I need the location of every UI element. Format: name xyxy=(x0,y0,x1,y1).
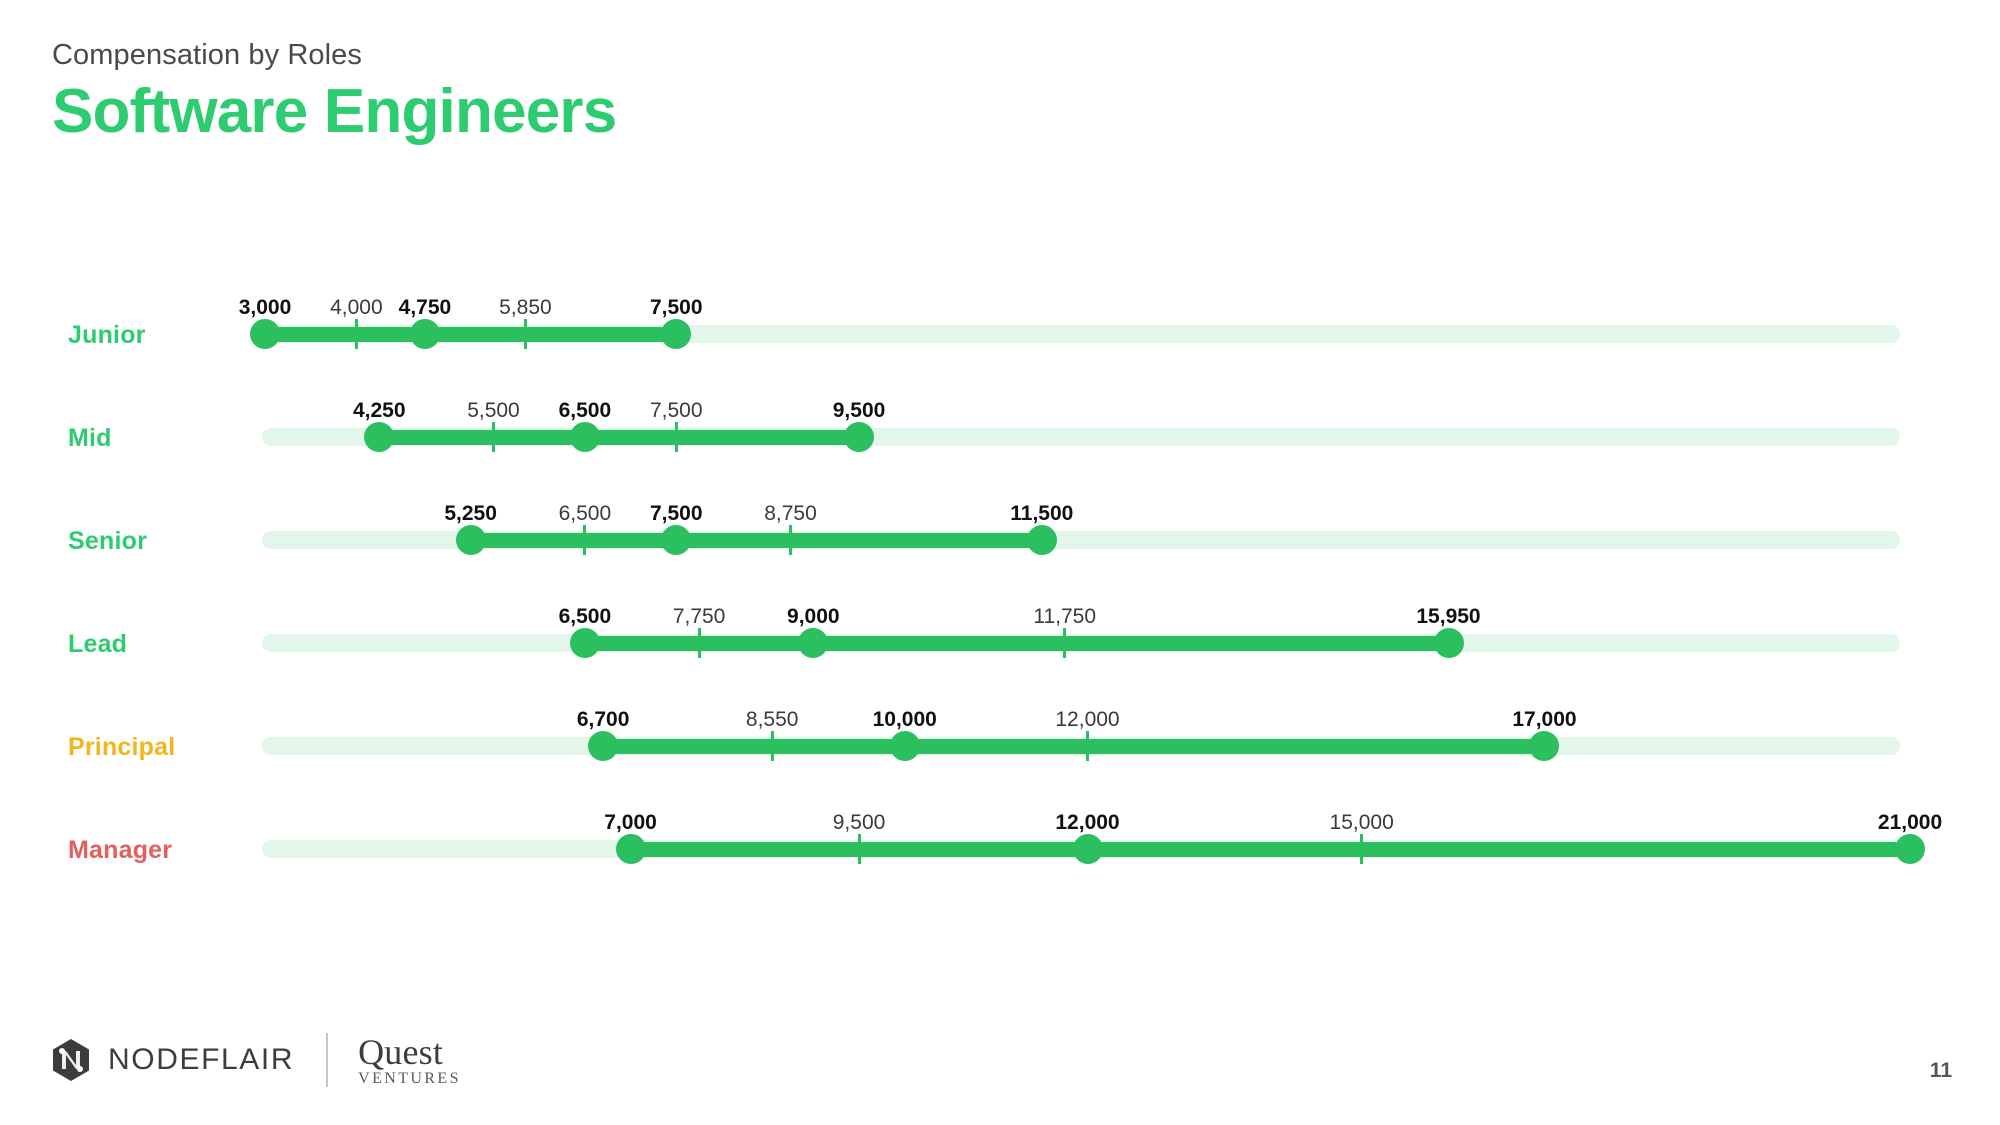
marker-dot-max xyxy=(1027,525,1057,555)
value-label-p75: 8,750 xyxy=(764,502,817,526)
chart-row-junior: Junior3,0004,0004,7505,8507,500 xyxy=(0,300,2000,404)
row-range-bar xyxy=(631,842,1910,857)
marker-dot-median xyxy=(798,628,828,658)
value-label-min: 5,250 xyxy=(444,502,497,526)
chart-row-manager: Manager7,0009,50012,00015,00021,000 xyxy=(0,815,2000,919)
value-label-max: 11,500 xyxy=(1010,502,1073,526)
row-range-bar xyxy=(585,636,1449,651)
row-range-bar xyxy=(603,739,1544,754)
value-label-max: 15,950 xyxy=(1416,605,1480,629)
row-label-lead: Lead xyxy=(68,630,268,659)
value-label-max: 9,500 xyxy=(833,399,886,423)
chart-row-lead: Lead6,5007,7509,00011,75015,950 xyxy=(0,609,2000,713)
row-range-bar xyxy=(471,533,1042,548)
value-label-max: 17,000 xyxy=(1512,708,1576,732)
value-label-min: 7,000 xyxy=(604,811,657,835)
marker-dot-min xyxy=(364,422,394,452)
marker-dot-min xyxy=(570,628,600,658)
quartile-tick-p25 xyxy=(858,834,861,864)
quartile-tick-p75 xyxy=(524,319,527,349)
quest-subwordmark: VENTURES xyxy=(358,1071,463,1087)
value-label-p75: 11,750 xyxy=(1033,605,1096,629)
marker-dot-min xyxy=(616,834,646,864)
chart-row-senior: Senior5,2506,5007,5008,75011,500 xyxy=(0,506,2000,610)
value-label-p25: 9,500 xyxy=(833,811,886,835)
value-label-median: 9,000 xyxy=(787,605,840,629)
value-label-p75: 5,850 xyxy=(499,296,552,320)
chart-row-principal: Principal6,7008,55010,00012,00017,000 xyxy=(0,712,2000,816)
row-label-senior: Senior xyxy=(68,527,268,556)
marker-dot-max xyxy=(1895,834,1925,864)
quartile-tick-p25 xyxy=(583,525,586,555)
nodeflair-hexagon-logo-icon xyxy=(48,1037,94,1083)
page-number: 11 xyxy=(1930,1059,1952,1083)
quartile-tick-p25 xyxy=(698,628,701,658)
marker-dot-max xyxy=(844,422,874,452)
nodeflair-logo: NODEFLAIR xyxy=(48,1037,294,1083)
marker-dot-min xyxy=(456,525,486,555)
marker-dot-median xyxy=(1073,834,1103,864)
marker-dot-min xyxy=(250,319,280,349)
quartile-tick-p25 xyxy=(771,731,774,761)
marker-dot-median xyxy=(410,319,440,349)
value-label-p75: 15,000 xyxy=(1330,811,1394,835)
value-label-min: 6,500 xyxy=(559,605,612,629)
quartile-tick-p25 xyxy=(355,319,358,349)
quartile-tick-p75 xyxy=(789,525,792,555)
value-label-p75: 7,500 xyxy=(650,399,703,423)
row-label-principal: Principal xyxy=(68,733,268,762)
quest-wordmark: Quest xyxy=(358,1034,443,1070)
logo-divider xyxy=(326,1033,328,1087)
value-label-median: 12,000 xyxy=(1055,811,1119,835)
row-label-manager: Manager xyxy=(68,836,268,865)
quartile-tick-p75 xyxy=(675,422,678,452)
value-label-median: 4,750 xyxy=(399,296,452,320)
value-label-median: 10,000 xyxy=(873,708,937,732)
marker-dot-max xyxy=(661,319,691,349)
value-label-p75: 12,000 xyxy=(1055,708,1119,732)
row-range-bar xyxy=(379,430,859,445)
row-range-bar xyxy=(265,327,676,342)
marker-dot-max xyxy=(1434,628,1464,658)
value-label-p25: 7,750 xyxy=(673,605,726,629)
value-label-median: 7,500 xyxy=(650,502,703,526)
row-label-junior: Junior xyxy=(68,321,268,350)
quest-ventures-logo: Quest VENTURES xyxy=(358,1034,463,1087)
value-label-min: 4,250 xyxy=(353,399,406,423)
footer-logos: NODEFLAIR Quest VENTURES xyxy=(48,1033,463,1087)
value-label-p25: 6,500 xyxy=(559,502,612,526)
chart-row-mid: Mid4,2505,5006,5007,5009,500 xyxy=(0,403,2000,507)
value-label-min: 3,000 xyxy=(239,296,292,320)
row-label-mid: Mid xyxy=(68,424,268,453)
value-label-median: 6,500 xyxy=(559,399,612,423)
marker-dot-median xyxy=(890,731,920,761)
range-chart: Junior3,0004,0004,7505,8507,500Mid4,2505… xyxy=(0,0,2000,1125)
page-footer: NODEFLAIR Quest VENTURES 11 xyxy=(0,995,2000,1125)
marker-dot-median xyxy=(661,525,691,555)
quartile-tick-p75 xyxy=(1063,628,1066,658)
value-label-p25: 8,550 xyxy=(746,708,799,732)
marker-dot-min xyxy=(588,731,618,761)
quartile-tick-p75 xyxy=(1086,731,1089,761)
value-label-p25: 5,500 xyxy=(467,399,520,423)
quartile-tick-p25 xyxy=(492,422,495,452)
quartile-tick-p75 xyxy=(1360,834,1363,864)
marker-dot-max xyxy=(1529,731,1559,761)
marker-dot-median xyxy=(570,422,600,452)
value-label-max: 21,000 xyxy=(1878,811,1942,835)
value-label-min: 6,700 xyxy=(577,708,630,732)
value-label-p25: 4,000 xyxy=(330,296,383,320)
value-label-max: 7,500 xyxy=(650,296,703,320)
nodeflair-wordmark: NODEFLAIR xyxy=(108,1043,294,1077)
